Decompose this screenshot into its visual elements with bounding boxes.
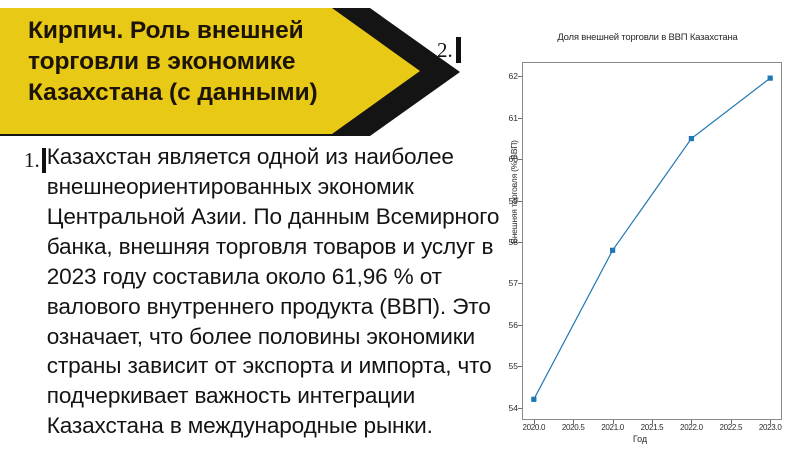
list-marker-two-label: 2.	[437, 38, 453, 63]
chart-x-tick-mark	[534, 420, 535, 424]
list-marker-one[interactable]: 1.	[24, 143, 46, 173]
chart-data-point	[689, 136, 694, 141]
chart-panel: Доля внешней торговли в ВВП Казахстана В…	[495, 22, 800, 450]
body-paragraph[interactable]: Казахстан является одной из наиболее вне…	[47, 142, 500, 441]
chart-x-tick-mark	[731, 420, 732, 424]
chart-y-tick-label: 61	[492, 113, 518, 123]
text-cursor-caret	[456, 37, 461, 63]
chart-series-line	[534, 78, 770, 399]
page-title: Кирпич. Роль внешней торговли в экономик…	[28, 16, 368, 109]
chart-x-tick-label: 2023.0	[747, 423, 793, 432]
text-cursor-caret-body	[42, 148, 46, 173]
chart-title: Доля внешней торговли в ВВП Казахстана	[495, 32, 800, 43]
chart-data-point	[610, 248, 615, 253]
list-marker-one-label: 1.	[24, 150, 40, 171]
chart-data-point	[531, 397, 536, 402]
chart-x-tick-mark	[770, 420, 771, 424]
chart-y-tick-label: 62	[492, 71, 518, 81]
list-marker-two[interactable]: 2.	[437, 37, 461, 63]
chart-x-tick-mark	[613, 420, 614, 424]
chart-data-point	[768, 76, 773, 81]
chart-line-series	[522, 62, 782, 420]
chart-x-tick-mark	[652, 420, 653, 424]
body-list-item: 1. Казахстан является одной из наиболее …	[24, 143, 500, 441]
chart-x-tick-mark	[573, 420, 574, 424]
chart-x-tick-mark	[691, 420, 692, 424]
chart-x-axis-label: Год	[495, 434, 785, 444]
